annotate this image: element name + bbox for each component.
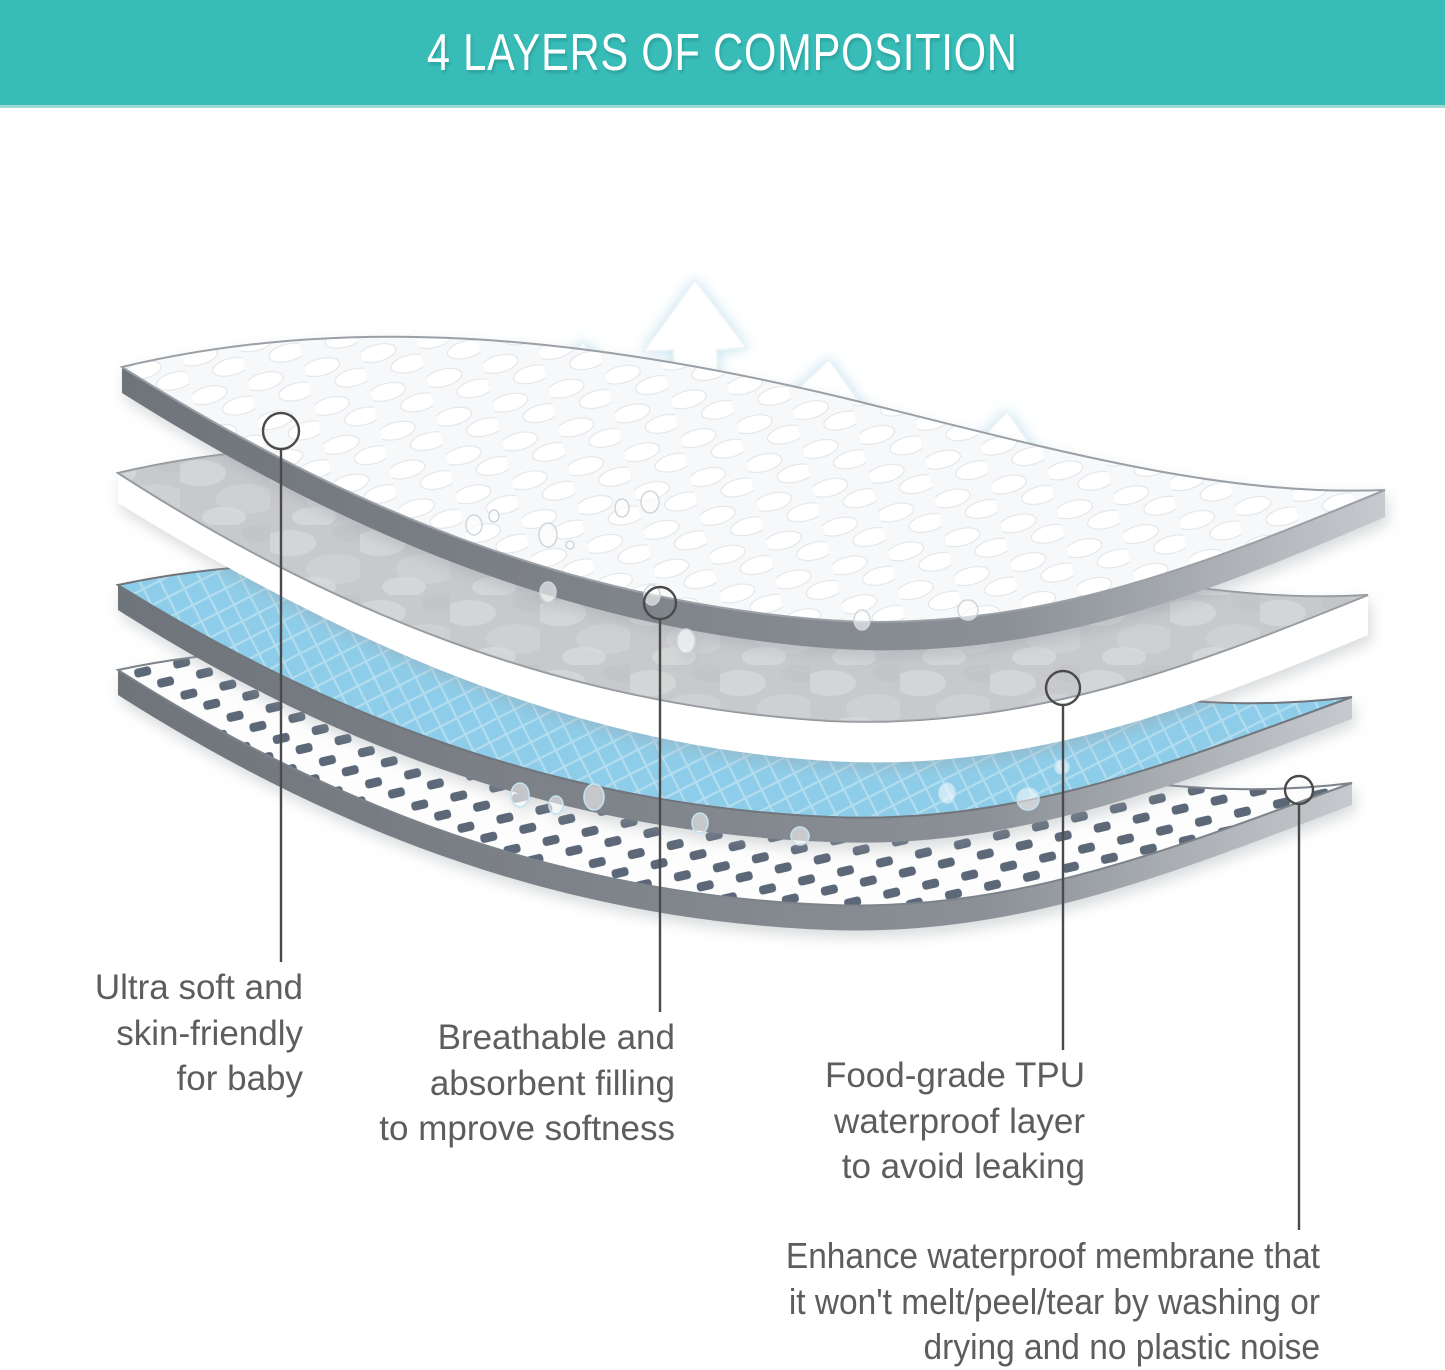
layer-stack-illustration [0,105,1445,950]
callout-1-label: Ultra soft and skin-friendly for baby [18,965,303,1102]
header-banner: 4 LAYERS OF COMPOSITION [0,0,1445,105]
infographic-root: 4 LAYERS OF COMPOSITION [0,0,1445,1367]
callout-2-label: Breathable and absorbent filling to mpro… [330,1015,675,1152]
page-title: 4 LAYERS OF COMPOSITION [427,23,1018,83]
callout-4-label: Enhance waterproof membrane that it won'… [688,1233,1320,1370]
callout-3-label: Food-grade TPU waterproof layer to avoid… [760,1053,1085,1190]
